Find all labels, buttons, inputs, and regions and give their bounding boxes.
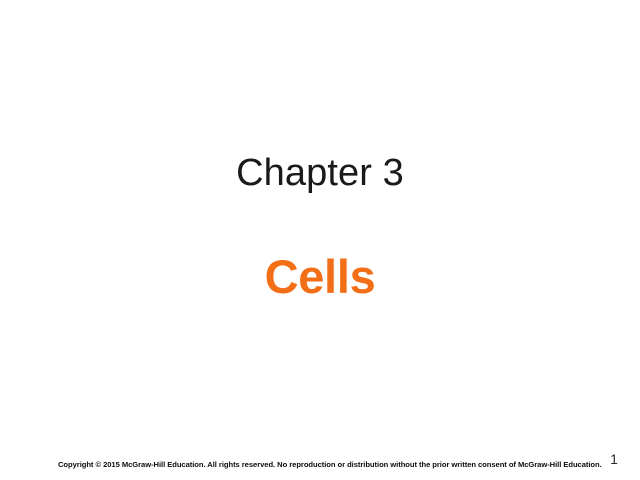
copyright-notice: Copyright © 2015 McGraw-Hill Education. … [58, 460, 602, 469]
page-title: Chapter 3 [0, 150, 640, 196]
slide-canvas: Chapter 3 Cells Copyright © 2015 McGraw-… [0, 0, 640, 480]
subtitle-placeholder: Cells [0, 250, 640, 304]
title-placeholder: Chapter 3 [0, 150, 640, 196]
slide-number: 1 [604, 450, 624, 468]
subtitle-heading: Cells [0, 250, 640, 304]
